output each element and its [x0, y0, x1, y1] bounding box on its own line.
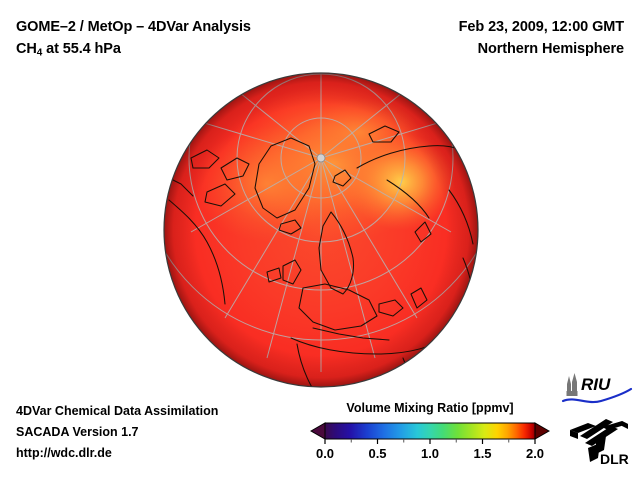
north-pole-marker: [317, 154, 325, 162]
footer-line-assimilation: 4DVar Chemical Data Assimilation: [16, 401, 306, 422]
colorbar-tick-3: 1.5: [473, 446, 491, 461]
colorbar-under-arrow: [311, 423, 325, 439]
colorbar-gradient: [325, 423, 535, 439]
colorbar-ticks: [325, 439, 535, 444]
globe-svg: [163, 72, 479, 388]
datetime-label: Feb 23, 2009, 12:00 GMT: [324, 16, 624, 38]
dlr-logo-svg: DLR: [566, 410, 632, 468]
colorbar-tick-0: 0.0: [316, 446, 334, 461]
riu-logo: RIU: [561, 372, 633, 406]
footer-line-url[interactable]: http://wdc.dlr.de: [16, 443, 306, 464]
species-suffix: at 55.4 hPa: [42, 41, 121, 57]
footer-text: 4DVar Chemical Data Assimilation SACADA …: [16, 401, 306, 464]
region-label: Northern Hemisphere: [324, 38, 624, 60]
globe-map: [163, 72, 479, 388]
colorbar-tick-2: 1.0: [421, 446, 439, 461]
species-prefix: CH: [16, 41, 37, 57]
colorbar: Volume Mixing Ratio [ppmv]: [310, 400, 550, 472]
footer-line-version: SACADA Version 1.7: [16, 422, 306, 443]
dlr-wordmark: DLR: [600, 451, 629, 467]
colorbar-scale: [310, 421, 550, 445]
cathedral-icon: [567, 373, 578, 396]
riu-logo-svg: RIU: [561, 372, 633, 406]
colorbar-tick-1: 0.5: [368, 446, 386, 461]
header-left: GOME–2 / MetOp – 4DVar Analysis CH4 at 5…: [16, 16, 346, 65]
limb-shading: [164, 73, 478, 387]
instrument-title: GOME–2 / MetOp – 4DVar Analysis: [16, 16, 346, 38]
species-level-title: CH4 at 55.4 hPa: [16, 38, 346, 65]
header-right: Feb 23, 2009, 12:00 GMT Northern Hemisph…: [324, 16, 624, 60]
dlr-logo: DLR: [566, 410, 632, 468]
colorbar-tick-labels: 0.0 0.5 1.0 1.5 2.0: [310, 446, 550, 466]
coastline-new-siberian-islands: [439, 114, 469, 132]
riu-wordmark: RIU: [581, 375, 611, 394]
colorbar-tick-4: 2.0: [526, 446, 544, 461]
colorbar-title: Volume Mixing Ratio [ppmv]: [310, 400, 550, 416]
colorbar-over-arrow: [535, 423, 549, 439]
